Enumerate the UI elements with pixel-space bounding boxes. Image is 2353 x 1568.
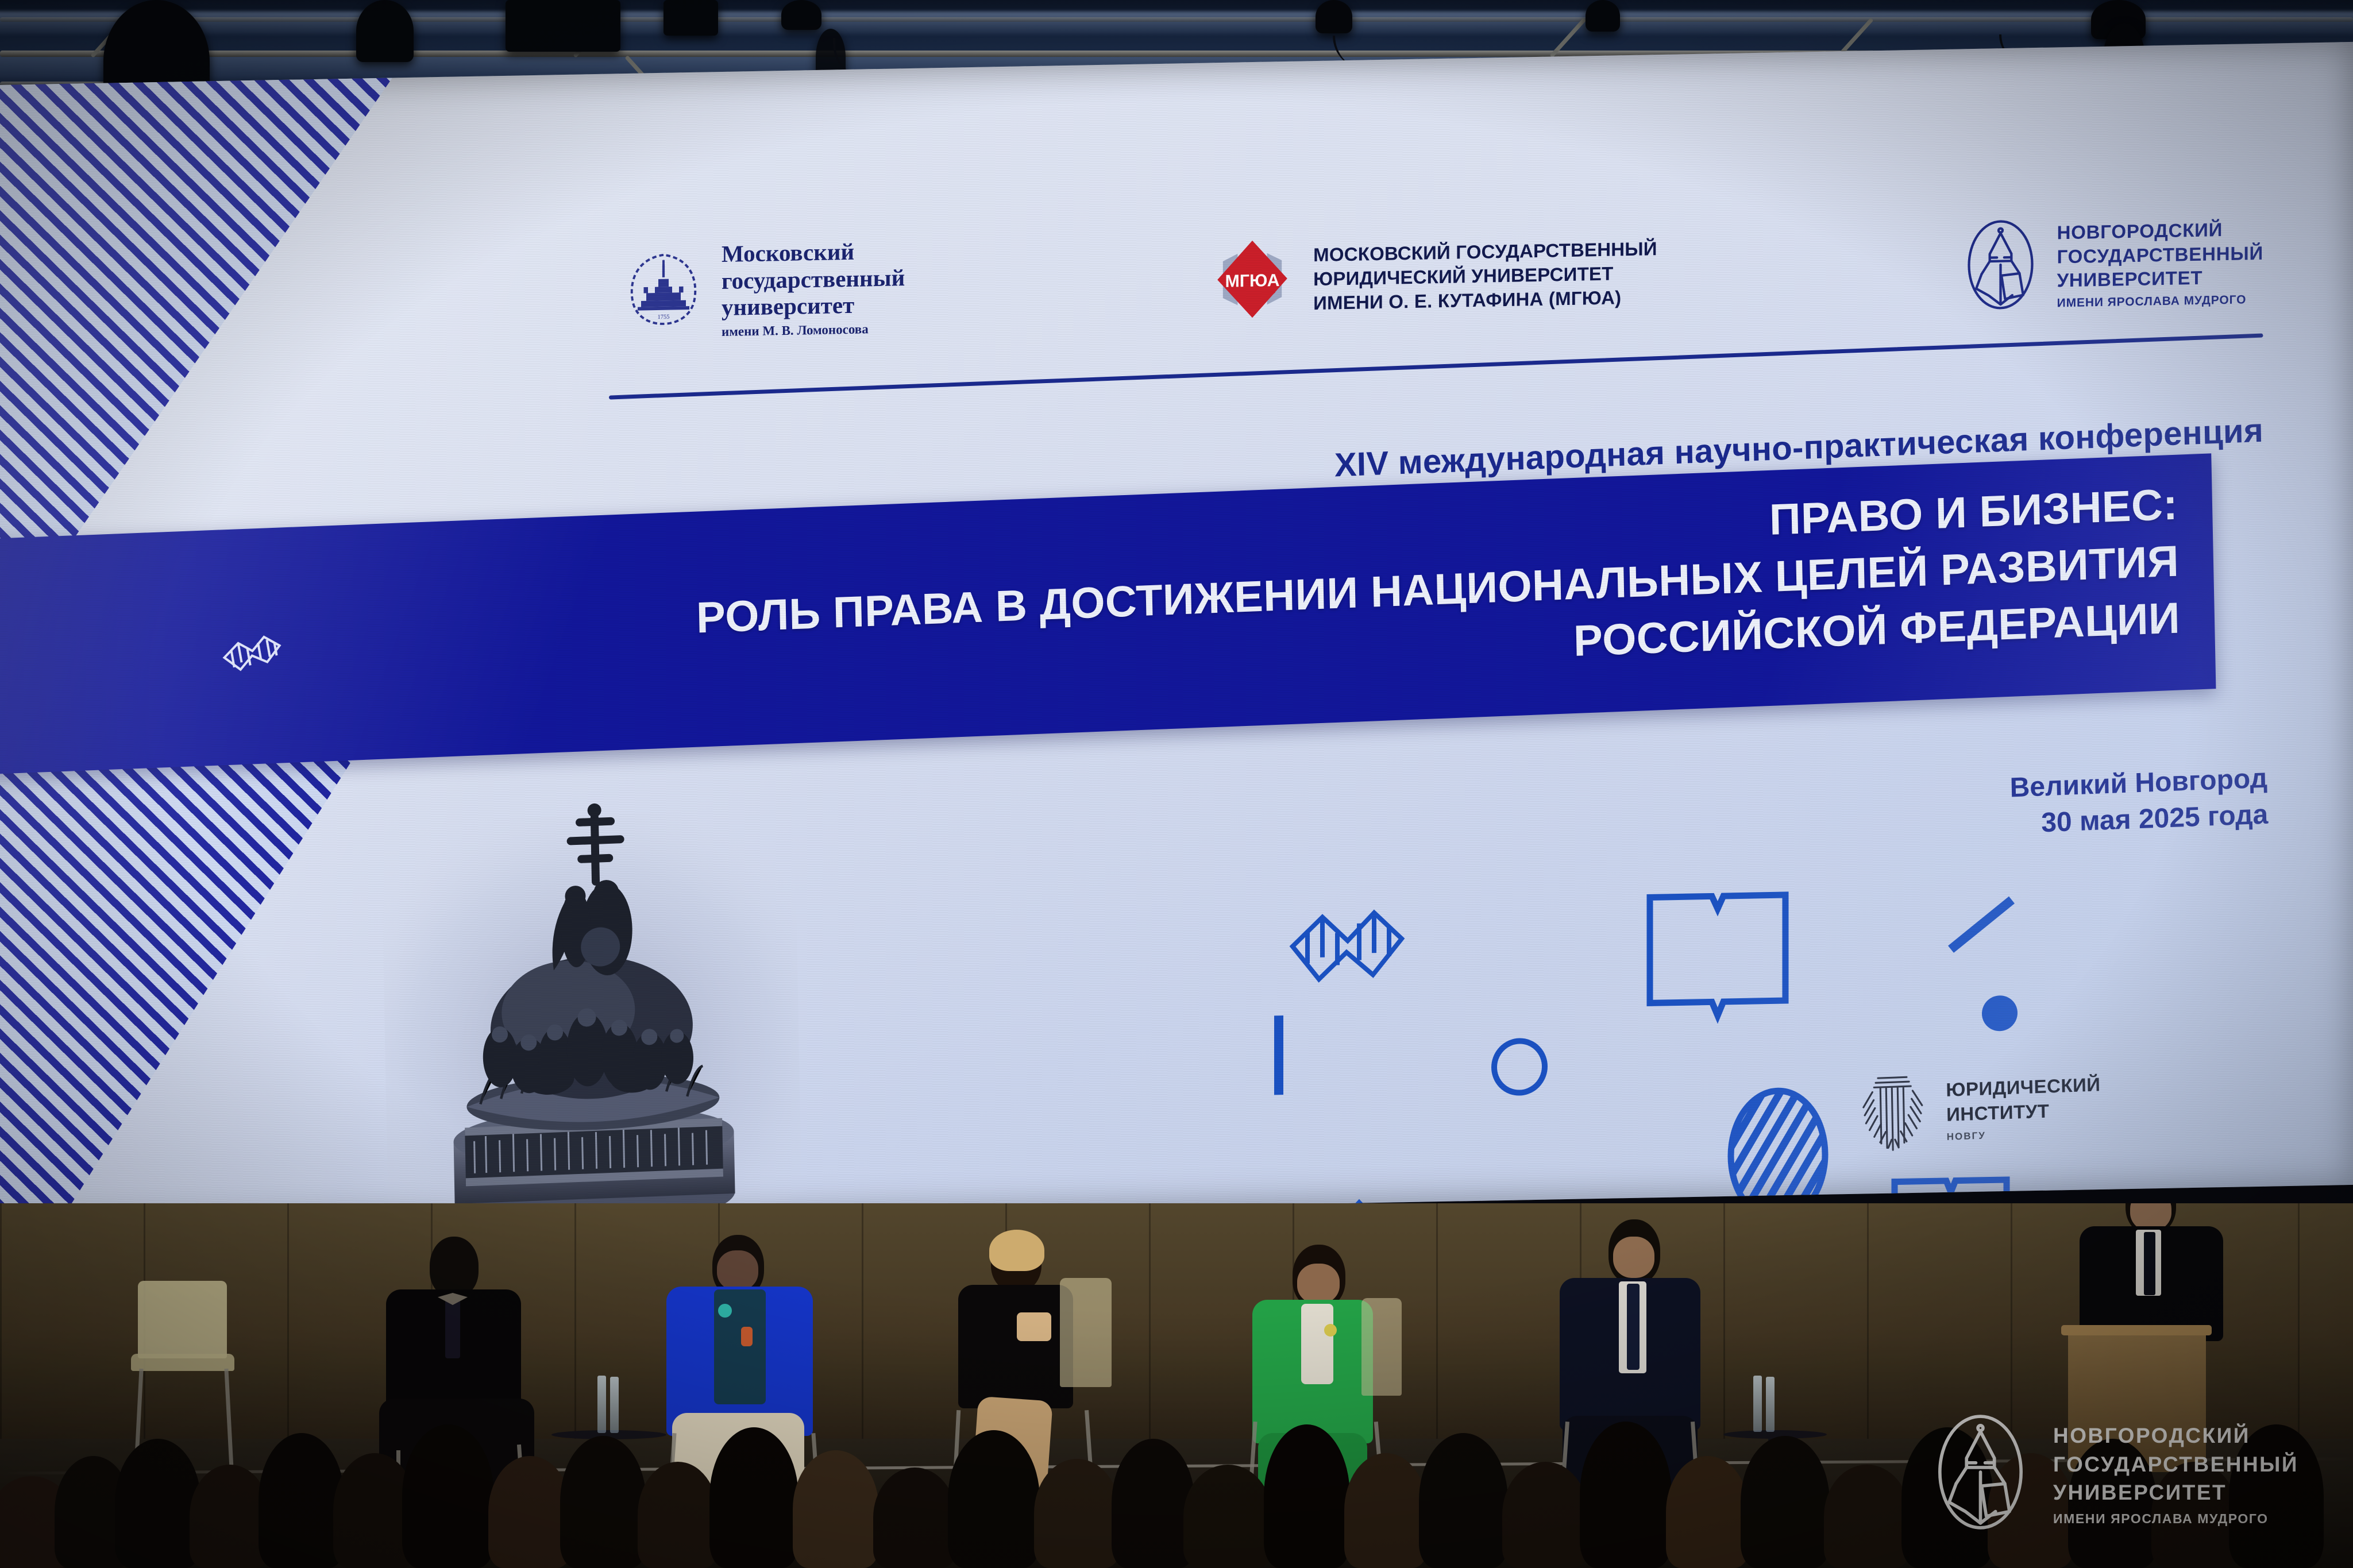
- logo-msal-line1: МОСКОВСКИЙ ГОСУДАРСТВЕННЫЙ ЮРИДИЧЕСКИЙ У…: [1313, 237, 1657, 316]
- diagonal-stripe-decor: [0, 744, 362, 1228]
- legal-institute-sub: НОВГУ: [1947, 1126, 2101, 1144]
- lectern-top: [2061, 1325, 2212, 1335]
- circle-outline-icon: [1485, 1034, 1554, 1102]
- logo-msu-text: Московский государственный университет и…: [722, 237, 905, 339]
- novsu-watermark-text: НОВГОРОДСКИЙ ГОСУДАРСТВЕННЫЙ УНИВЕРСИТЕТ…: [2053, 1422, 2298, 1527]
- striped-book-icon: [218, 629, 287, 678]
- logo-msal-text: МОСКОВСКИЙ ГОСУДАРСТВЕННЫЙ ЮРИДИЧЕСКИЙ У…: [1313, 237, 1657, 316]
- logo-msu: 1755 Московский государственный универси…: [620, 237, 905, 341]
- stage-light: [506, 0, 620, 52]
- diagonal-dash-icon: [1942, 891, 2022, 965]
- venue-and-date: Великий Новгород 30 мая 2025 года: [2009, 760, 2269, 843]
- msu-seal-icon: 1755: [620, 246, 707, 337]
- novsu-oval-chronicler-icon: [1927, 1412, 2034, 1536]
- logo-msu-line2: имени М. В. Ломоносова: [722, 321, 905, 339]
- watermark-line1: НОВГОРОДСКИЙ ГОСУДАРСТВЕННЫЙ УНИВЕРСИТЕТ: [2053, 1422, 2298, 1507]
- title-band: ПРАВО И БИЗНЕС: РОЛЬ ПРАВА В ДОСТИЖЕНИИ …: [0, 453, 2216, 774]
- logo-msu-line1: Московский государственный университет: [722, 237, 905, 321]
- svg-text:1755: 1755: [658, 314, 670, 320]
- stage-light: [1586, 0, 1620, 32]
- watermark-line2: ИМЕНИ ЯРОСЛАВА МУДРОГО: [2053, 1511, 2298, 1527]
- conference-title: ПРАВО И БИЗНЕС: РОЛЬ ПРАВА В ДОСТИЖЕНИИ …: [695, 477, 2181, 704]
- stage-light: [781, 0, 821, 30]
- logo-novsu-line1: НОВГОРОДСКИЙ ГОСУДАРСТВЕННЫЙ УНИВЕРСИТЕТ: [2057, 217, 2263, 292]
- novsu-oval-chronicler-icon: [1959, 217, 2042, 316]
- legal-institute-name: ЮРИДИЧЕСКИЙ ИНСТИТУТ: [1946, 1072, 2101, 1127]
- truss-bar: [0, 17, 2353, 22]
- stage-light: [1316, 0, 1352, 33]
- logo-novsu-text: НОВГОРОДСКИЙ ГОСУДАРСТВЕННЫЙ УНИВЕРСИТЕТ…: [2057, 217, 2263, 310]
- stage-and-audience: НОВГОРОДСКИЙ ГОСУДАРСТВЕННЫЙ УНИВЕРСИТЕТ…: [0, 1203, 2353, 1568]
- novsu-watermark: НОВГОРОДСКИЙ ГОСУДАРСТВЕННЫЙ УНИВЕРСИТЕТ…: [1927, 1412, 2298, 1536]
- msal-diamond-icon: МГЮА: [1206, 232, 1298, 329]
- legal-institute-columns-icon: [1855, 1067, 1931, 1158]
- logo-novsu: НОВГОРОДСКИЙ ГОСУДАРСТВЕННЫЙ УНИВЕРСИТЕТ…: [1959, 213, 2263, 316]
- partner-logos: 1755 Московский государственный универси…: [620, 190, 2263, 364]
- striped-book-icon: [1287, 906, 1407, 986]
- logo-novsu-line2: ИМЕНИ ЯРОСЛАВА МУДРОГО: [2057, 293, 2263, 311]
- stage-light: [356, 0, 414, 62]
- decorative-shapes: [1264, 884, 2011, 1228]
- conference-hall-photo: 1755 Московский государственный универси…: [0, 0, 2353, 1568]
- vertical-bar-icon: [1268, 1012, 1291, 1102]
- logo-msal: МГЮА МОСКОВСКИЙ ГОСУДАРСТВЕННЫЙ ЮРИДИЧЕС…: [1206, 226, 1657, 329]
- millennium-monument-illustration: [369, 784, 815, 1228]
- projection-screen: 1755 Московский государственный универси…: [0, 42, 2353, 1228]
- msal-badge-text: МГЮА: [1225, 270, 1280, 291]
- legal-institute-text: ЮРИДИЧЕСКИЙ ИНСТИТУТ НОВГУ: [1946, 1072, 2101, 1143]
- filled-dot-icon: [1980, 993, 2020, 1037]
- legal-institute-lockup: ЮРИДИЧЕСКИЙ ИНСТИТУТ НОВГУ: [1855, 1061, 2102, 1157]
- stage-light: [664, 0, 718, 36]
- open-book-outline-icon: [1643, 888, 1792, 1029]
